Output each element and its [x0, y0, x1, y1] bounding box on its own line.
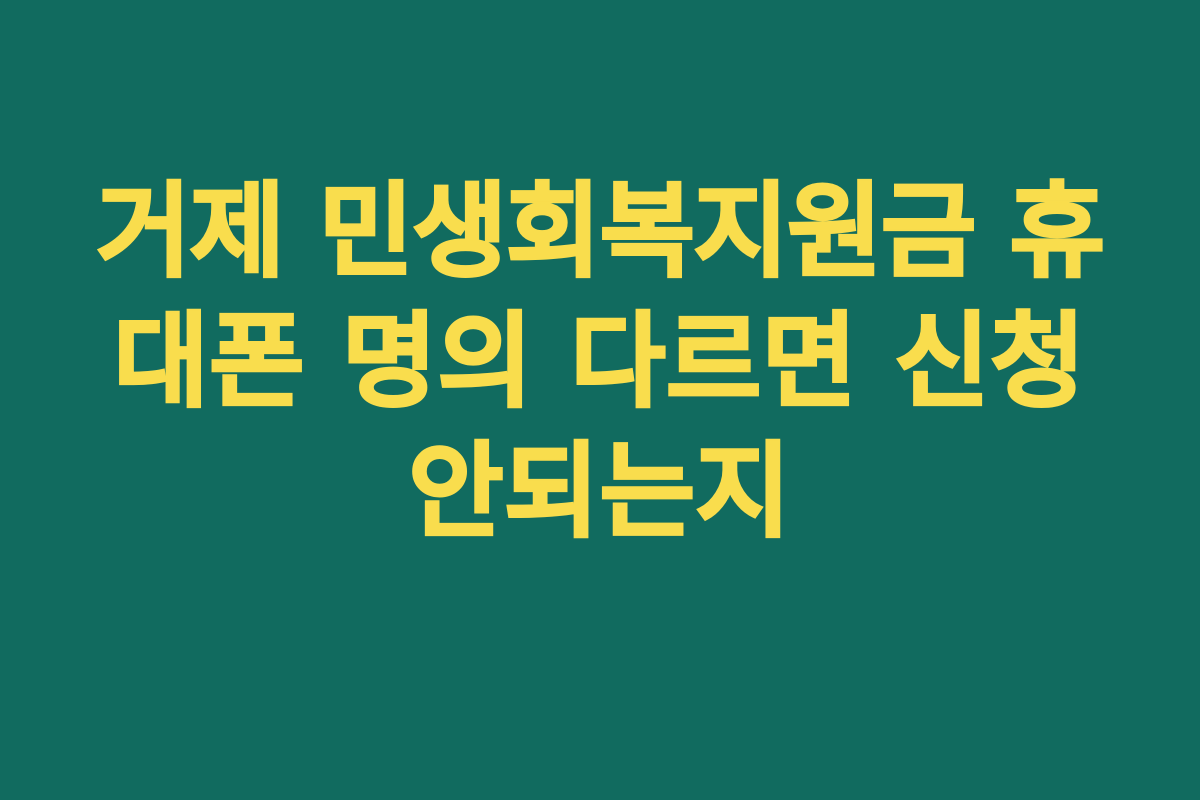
headline-line-2: 대폰 명의 다르면 신청 — [65, 297, 1135, 427]
headline-line-1: 거제 민생회복지원금 휴 — [65, 167, 1135, 297]
headline-line-3: 안되는지 — [65, 427, 1135, 557]
banner-canvas: 거제 민생회복지원금 휴 대폰 명의 다르면 신청 안되는지 — [0, 0, 1200, 800]
headline-block: 거제 민생회복지원금 휴 대폰 명의 다르면 신청 안되는지 — [65, 167, 1135, 557]
